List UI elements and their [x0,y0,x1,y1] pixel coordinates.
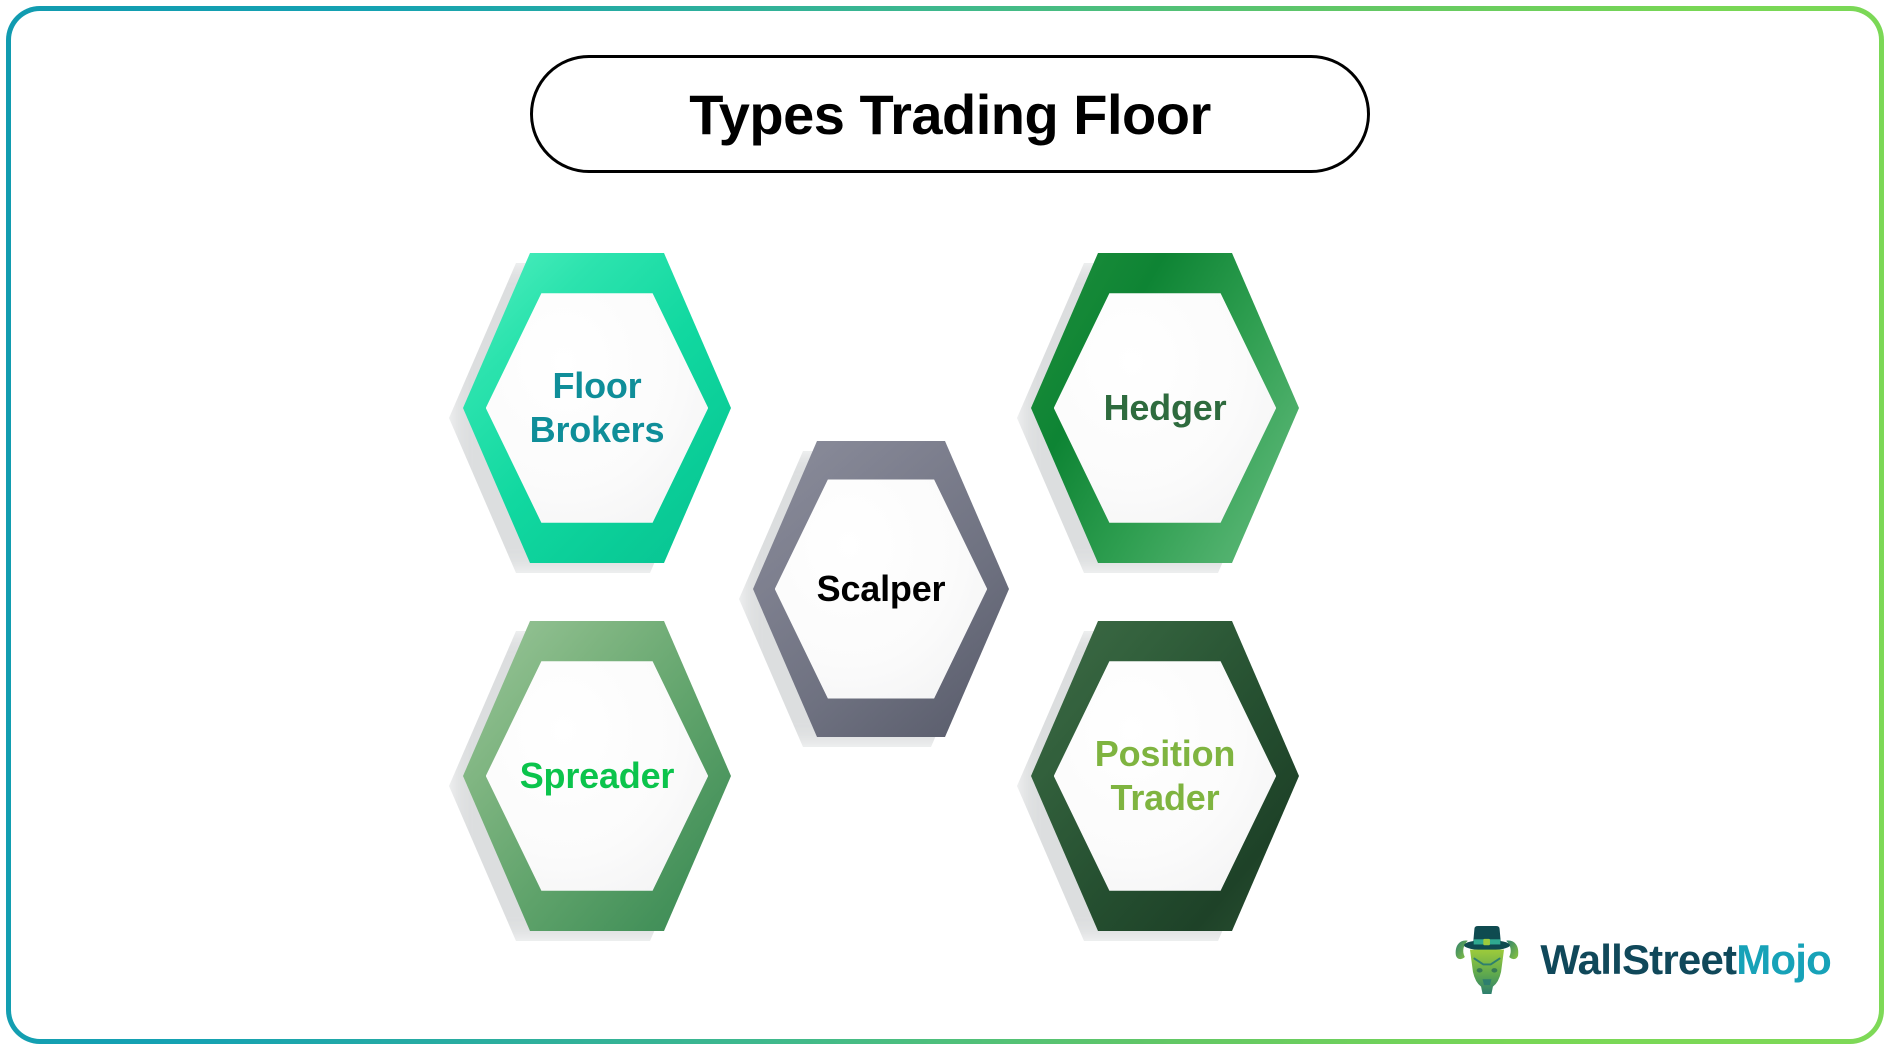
infographic-frame: Types Trading Floor Floor Brokers Hedger [6,6,1884,1044]
logo-wordmark: WallStreetMojo [1540,936,1831,984]
wordmark-primary: WallStreet [1540,936,1736,983]
hex-node-hedger[interactable]: Hedger [1031,253,1299,563]
hex-face-position-trader: Position Trader [1054,661,1276,890]
hex-label-spreader: Spreader [514,754,680,798]
hex-face-spreader: Spreader [486,661,708,890]
hex-label-hedger: Hedger [1098,386,1233,430]
hex-node-floor-brokers[interactable]: Floor Brokers [463,253,731,563]
infographic-canvas: Types Trading Floor Floor Brokers Hedger [11,11,1879,1039]
hex-face-hedger: Hedger [1054,293,1276,522]
wordmark-accent: Mojo [1736,936,1831,983]
hex-node-spreader[interactable]: Spreader [463,621,731,931]
hex-face-floor-brokers: Floor Brokers [486,293,708,522]
hexagon-cluster: Floor Brokers Hedger Scalper [11,11,1879,1039]
hex-label-position-trader: Position Trader [1054,732,1276,820]
bull-with-top-hat-icon [1450,923,1524,997]
hex-label-scalper: Scalper [811,567,952,611]
hex-label-floor-brokers: Floor Brokers [486,364,708,452]
brand-logo[interactable]: WallStreetMojo [1450,923,1831,997]
hex-face-scalper: Scalper [775,479,987,698]
hex-node-scalper[interactable]: Scalper [753,441,1009,737]
hex-node-position-trader[interactable]: Position Trader [1031,621,1299,931]
